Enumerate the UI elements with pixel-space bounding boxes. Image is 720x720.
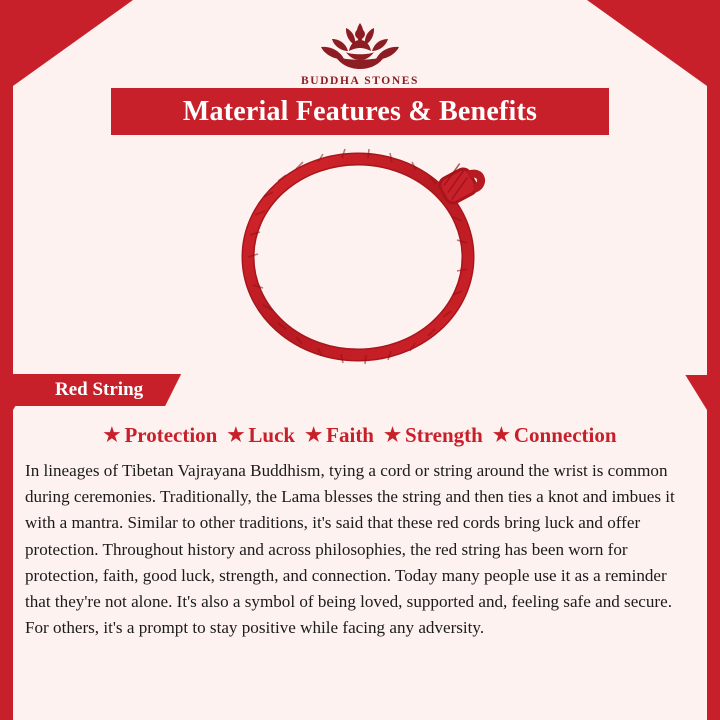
benefit-item-luck: ★ Luck: [217, 423, 295, 448]
benefit-label: Luck: [248, 423, 295, 448]
frame-left-border: [0, 0, 13, 720]
brand-name: BUDDHA STONES: [301, 75, 419, 87]
red-string-bracelet-image: [210, 135, 510, 365]
benefit-item-protection: ★ Protection: [103, 423, 217, 448]
benefit-item-connection: ★ Connection: [483, 423, 617, 448]
star-icon: ★: [305, 426, 322, 445]
product-name: Red String: [55, 379, 143, 401]
infographic-page: BUDDHA STONES Material Features & Benefi…: [0, 0, 720, 720]
star-icon: ★: [493, 426, 510, 445]
benefits-row: ★ Protection ★ Luck ★ Faith ★ Strength ★…: [23, 418, 697, 452]
star-icon: ★: [103, 426, 120, 445]
page-title: Material Features & Benefits: [183, 96, 537, 128]
star-icon: ★: [227, 426, 244, 445]
benefit-item-faith: ★ Faith: [295, 423, 374, 448]
lotus-meditation-icon: [315, 16, 405, 72]
page-title-banner: Material Features & Benefits: [111, 88, 609, 135]
benefit-item-strength: ★ Strength: [374, 423, 483, 448]
description-text: In lineages of Tibetan Vajrayana Buddhis…: [25, 458, 695, 641]
content-panel: BUDDHA STONES Material Features & Benefi…: [13, 0, 707, 720]
benefit-label: Faith: [326, 423, 374, 448]
benefit-label: Connection: [514, 423, 617, 448]
product-name-tag: Red String: [13, 374, 181, 406]
product-image-area: [13, 135, 707, 375]
benefit-label: Strength: [405, 423, 483, 448]
benefit-label: Protection: [124, 423, 217, 448]
star-icon: ★: [384, 426, 401, 445]
frame-right-border: [707, 0, 720, 720]
brand-logo: BUDDHA STONES: [13, 16, 707, 87]
